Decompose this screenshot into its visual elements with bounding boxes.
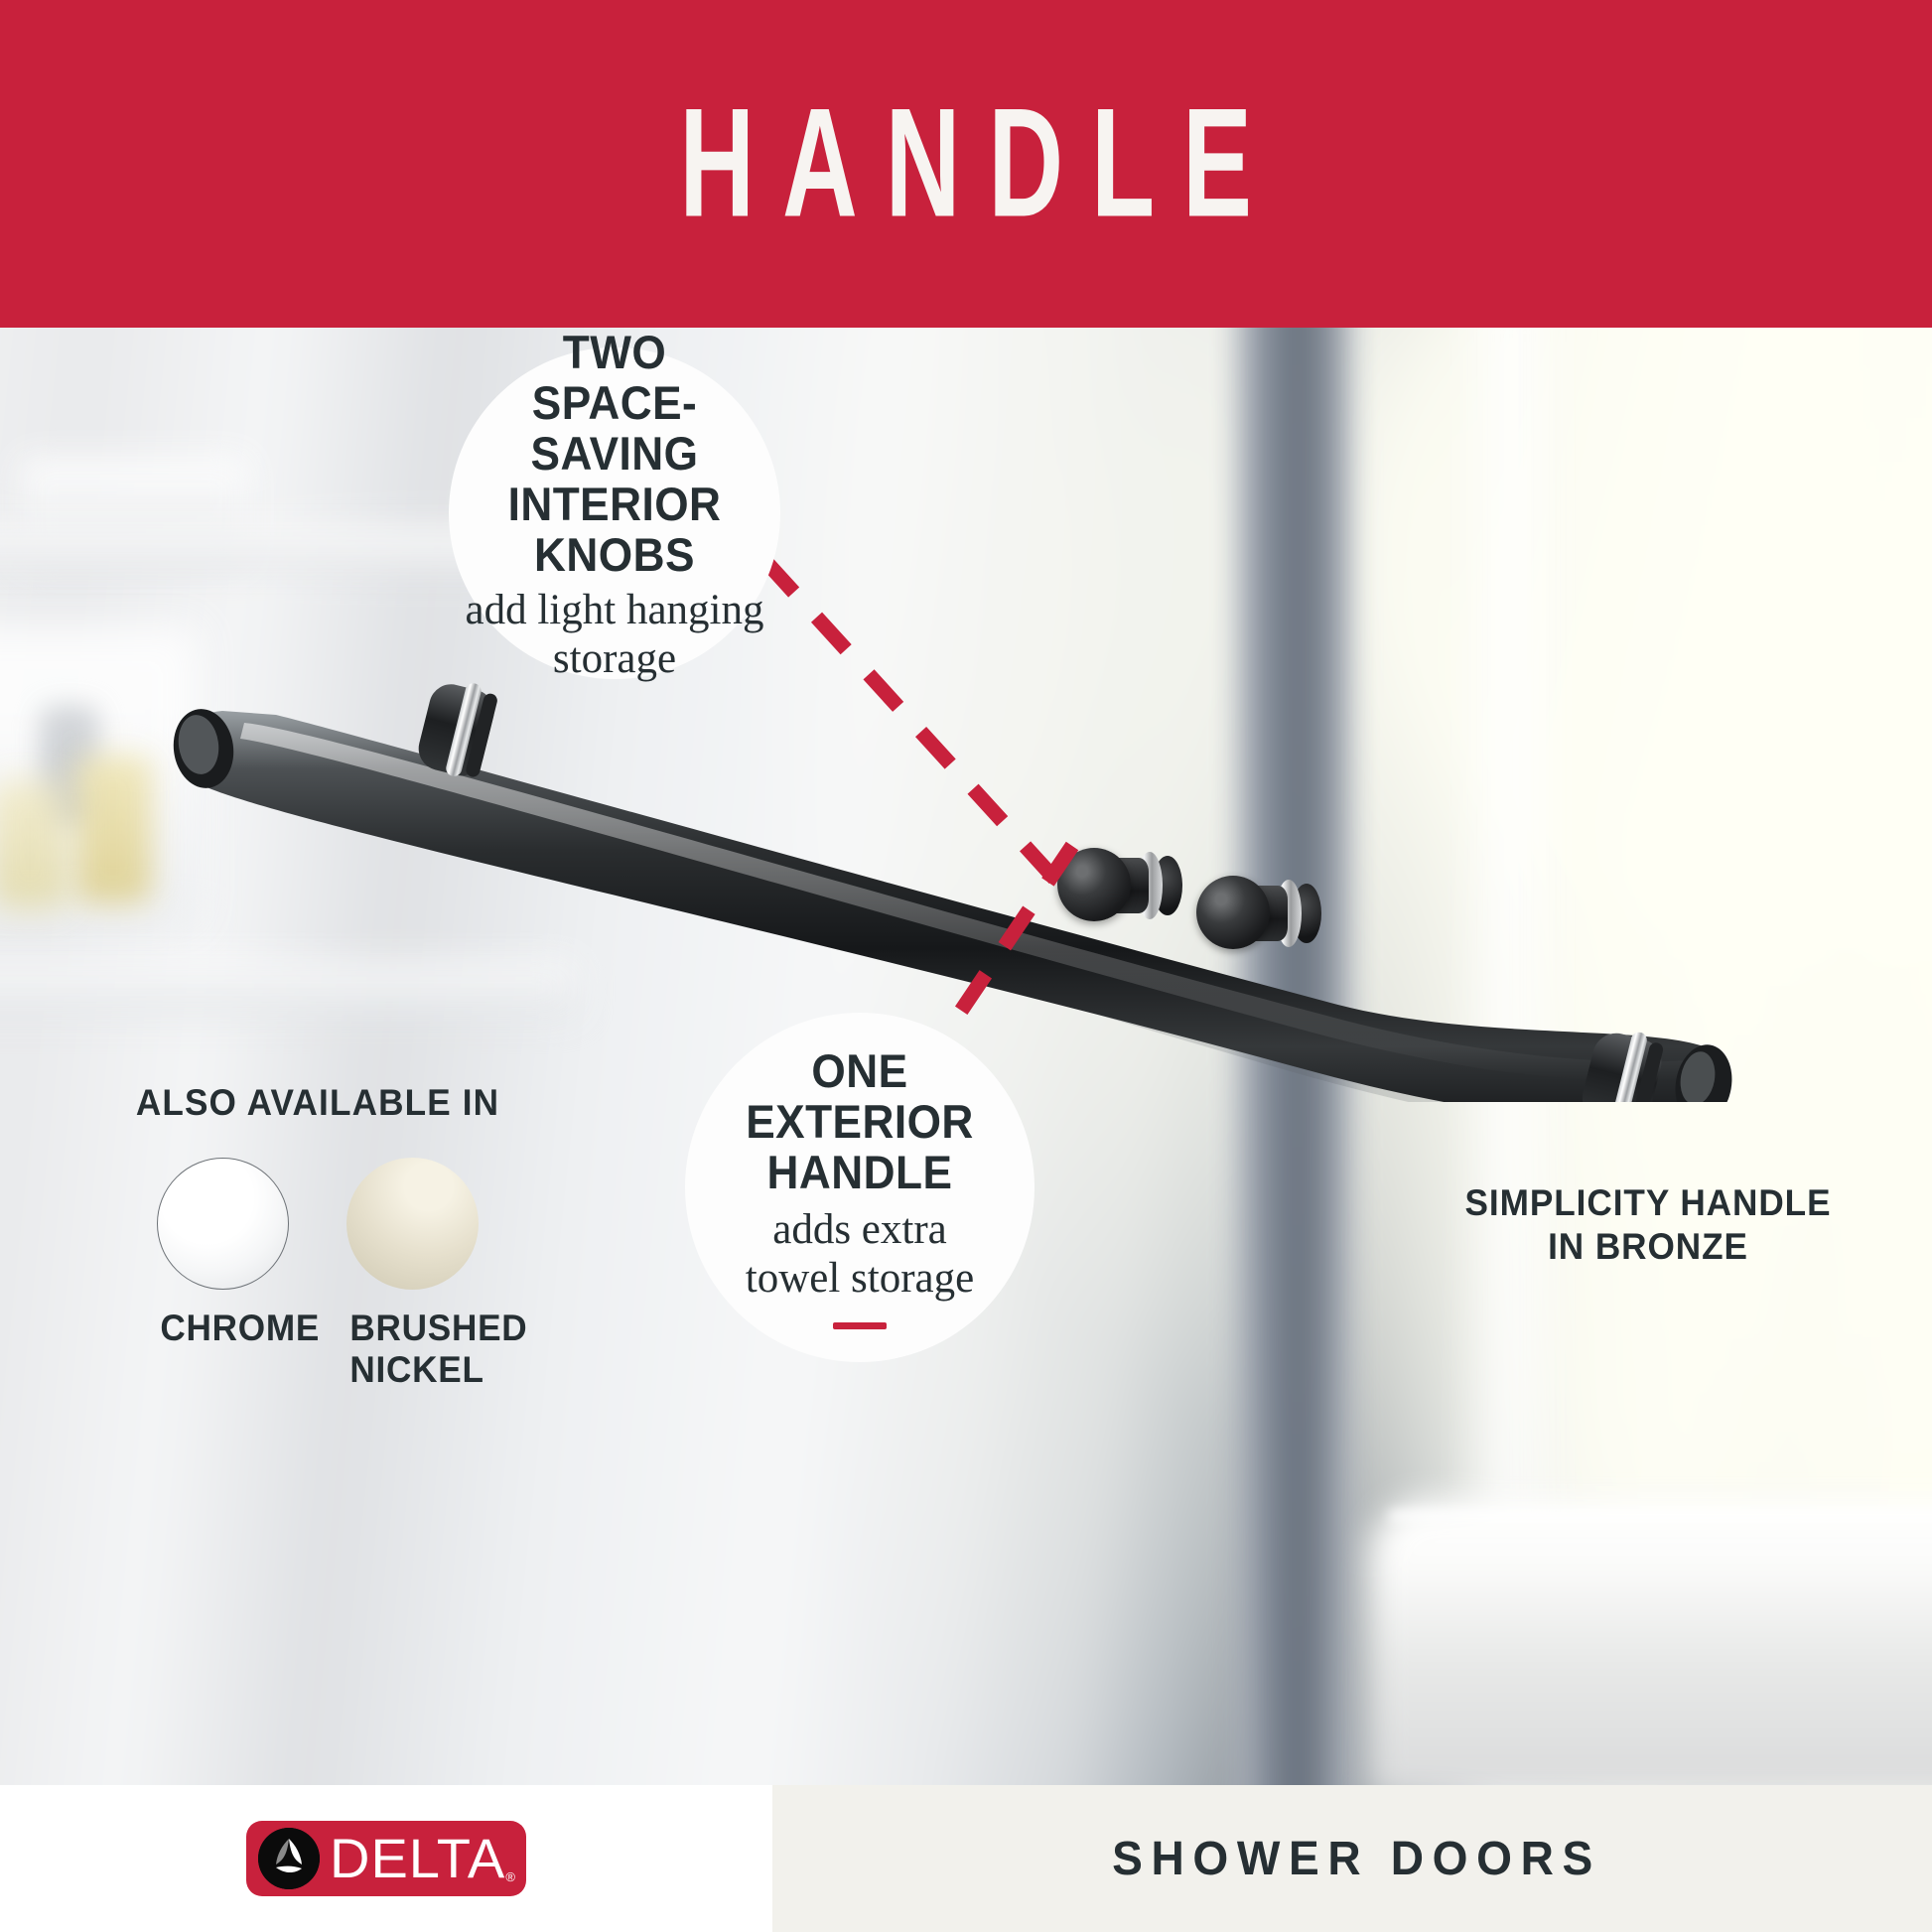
headline-line-1: TWO	[459, 328, 770, 377]
finish-label: CHROME	[160, 1308, 285, 1349]
finish-option-chrome[interactable]: CHROME	[157, 1158, 289, 1391]
headline-line-1: ONE EXTERIOR	[696, 1045, 1025, 1147]
subtext-line-2: towel storage	[746, 1254, 974, 1303]
footer-brand-area: DELTA ®	[0, 1785, 772, 1932]
finishes-title: ALSO AVAILABLE IN	[129, 1082, 506, 1124]
subtext-line-1: add light hanging	[466, 586, 764, 634]
callout-subtext: add light hanging storage	[466, 586, 764, 683]
callout-exterior-handle: ONE EXTERIOR HANDLE adds extra towel sto…	[685, 1013, 1035, 1362]
delta-logo[interactable]: DELTA ®	[246, 1821, 526, 1896]
finish-option-brushed-nickel[interactable]: BRUSHED NICKEL	[346, 1158, 479, 1391]
page-header: HANDLE	[0, 0, 1932, 328]
product-photo: TWO SPACE-SAVING INTERIOR KNOBS add ligh…	[0, 328, 1932, 1785]
infographic-page: HANDLE	[0, 0, 1932, 1932]
accent-rule	[833, 1322, 887, 1329]
exterior-handle-bar	[149, 645, 1817, 764]
finish-label-line-1: CHROME	[160, 1308, 285, 1349]
headline-line-2: SPACE-SAVING	[459, 377, 770, 479]
subtext-line-1: adds extra	[746, 1205, 974, 1254]
callout-interior-knobs: TWO SPACE-SAVING INTERIOR KNOBS add ligh…	[449, 347, 780, 679]
headline-line-3: INTERIOR KNOBS	[459, 479, 770, 580]
page-footer: DELTA ® SHOWER DOORS	[0, 1785, 1932, 1932]
finish-label-line-1: BRUSHED	[349, 1308, 475, 1349]
registered-mark: ®	[505, 1869, 515, 1884]
available-finishes: ALSO AVAILABLE IN CHROME BRUSHED NICKEL	[119, 1082, 516, 1391]
knob-head	[1057, 848, 1131, 921]
subtext-line-2: storage	[466, 634, 764, 683]
footer-category-label: SHOWER DOORS	[1103, 1832, 1600, 1886]
product-caption-line-1: SIMPLICITY HANDLE	[1450, 1181, 1847, 1225]
knob-head	[1196, 876, 1270, 949]
delta-wordmark: DELTA	[330, 1827, 505, 1890]
footer-category-area: SHOWER DOORS	[772, 1785, 1932, 1932]
finish-label-line-2: NICKEL	[349, 1349, 475, 1391]
headline-line-2: HANDLE	[696, 1147, 1025, 1197]
finish-swatch-row: CHROME BRUSHED NICKEL	[119, 1158, 516, 1391]
product-caption-line-2: IN BRONZE	[1450, 1225, 1847, 1269]
product-caption: SIMPLICITY HANDLE IN BRONZE	[1450, 1181, 1847, 1269]
finish-label: BRUSHED NICKEL	[349, 1308, 475, 1391]
callout-headline: TWO SPACE-SAVING INTERIOR KNOBS	[459, 328, 770, 580]
page-title: HANDLE	[652, 86, 1280, 241]
delta-triangle-icon	[258, 1828, 320, 1889]
brushed-nickel-swatch-icon	[346, 1158, 479, 1290]
chrome-swatch-icon	[157, 1158, 289, 1290]
callout-headline: ONE EXTERIOR HANDLE	[696, 1045, 1025, 1197]
callout-subtext: adds extra towel storage	[746, 1205, 974, 1303]
